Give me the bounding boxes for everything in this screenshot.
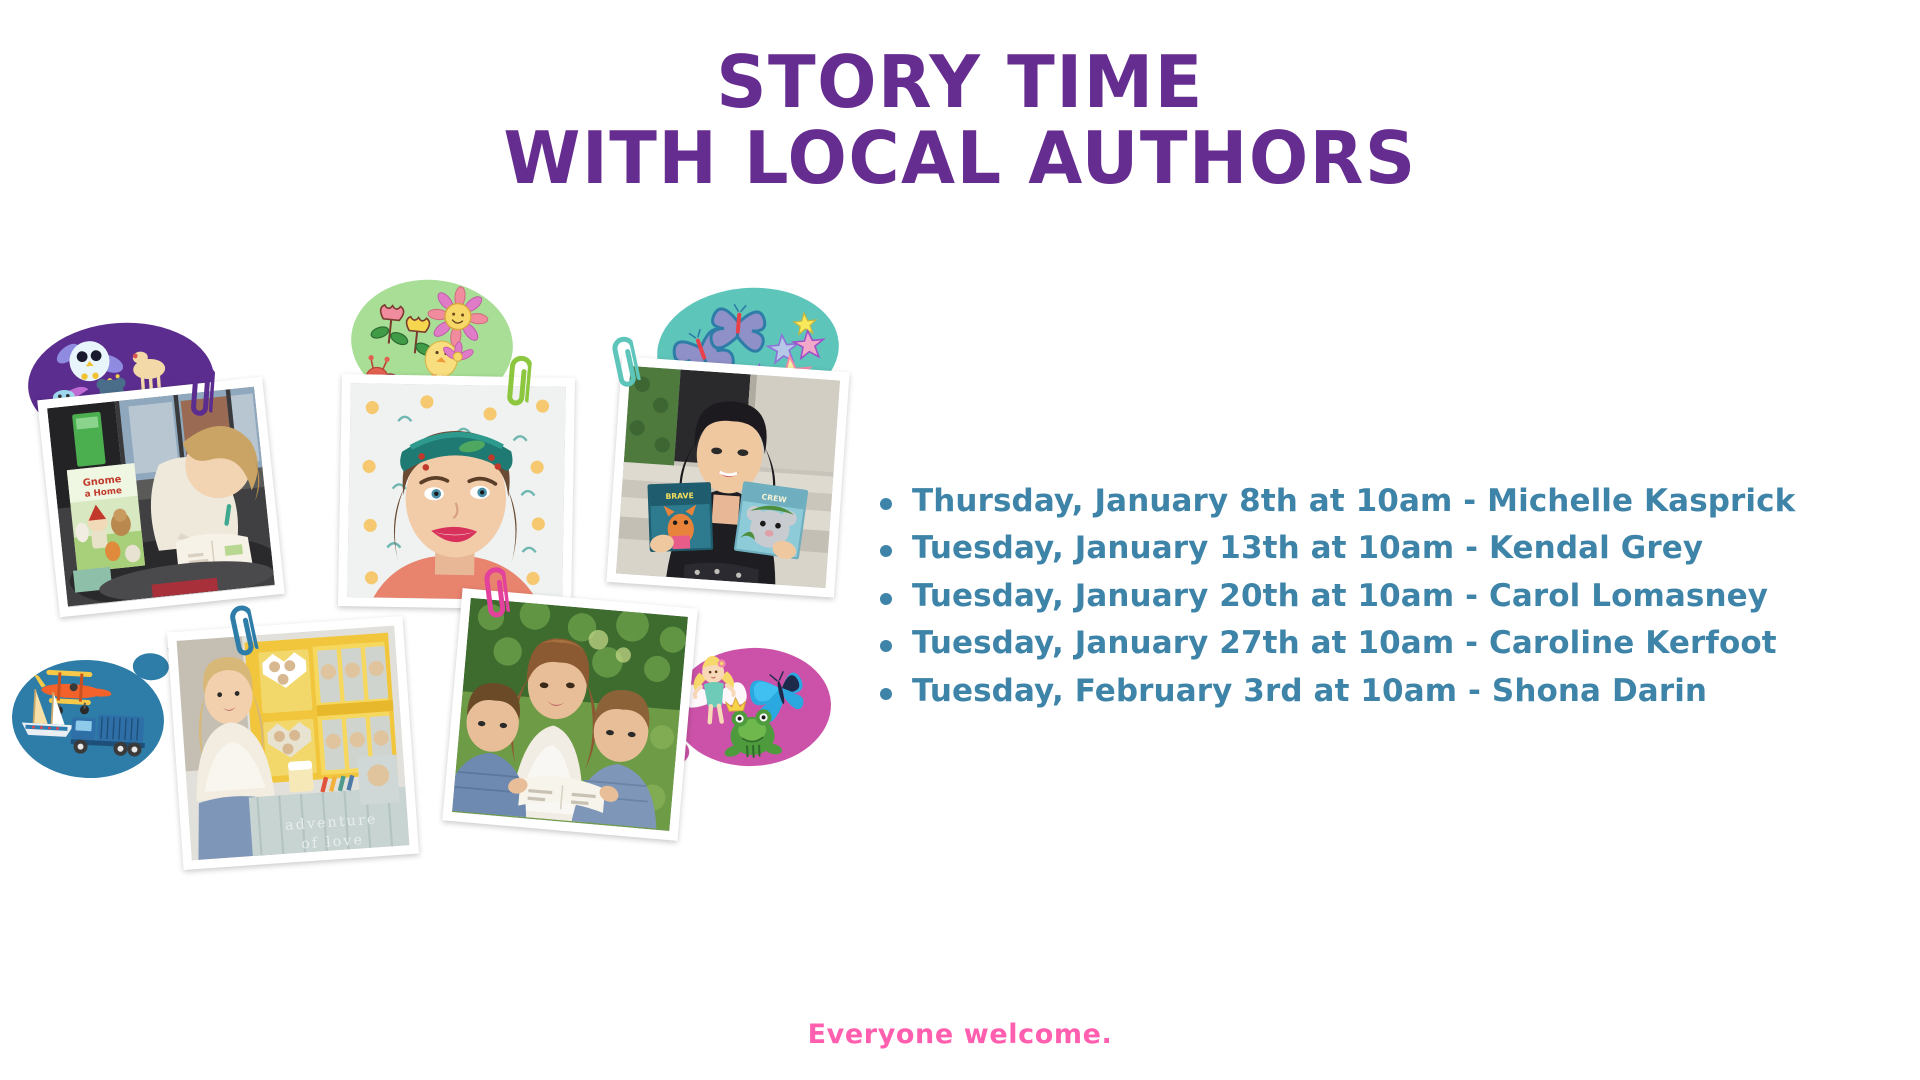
schedule-item: Tuesday, January 27th at 10am - Caroline… <box>880 627 1890 660</box>
pink-thought-bubble <box>670 644 834 770</box>
svg-text:of love: of love <box>301 832 365 852</box>
photo-author-holding-books: BRAVE CREW <box>606 356 849 597</box>
bullet-icon <box>880 640 892 652</box>
photo-family-reading <box>442 588 697 841</box>
schedule-item: Tuesday, January 20th at 10am - Carol Lo… <box>880 580 1890 613</box>
schedule-item-text: Tuesday, February 3rd at 10am - Shona Da… <box>912 675 1707 708</box>
schedule-item: Tuesday, January 13th at 10am - Kendal G… <box>880 532 1890 565</box>
schedule-item: Tuesday, February 3rd at 10am - Shona Da… <box>880 675 1890 708</box>
schedule-item: Thursday, January 8th at 10am - Michelle… <box>880 485 1890 518</box>
footer-text: Everyone welcome. <box>808 1019 1113 1050</box>
schedule-item-text: Tuesday, January 27th at 10am - Caroline… <box>912 627 1777 660</box>
paperclip-icon <box>501 354 532 414</box>
footer: Everyone welcome. <box>0 1019 1920 1050</box>
page-title: STORY TIME WITH LOCAL AUTHORS <box>0 44 1920 197</box>
photo-author-headband <box>338 374 575 610</box>
paperclip-icon <box>185 364 215 424</box>
photo-collage: Gnome a Home <box>0 280 900 1020</box>
bullet-icon <box>880 498 892 510</box>
schedule-item-text: Thursday, January 8th at 10am - Michelle… <box>912 485 1795 518</box>
bullet-icon <box>880 688 892 700</box>
paperclip-icon <box>606 334 643 396</box>
schedule-item-text: Tuesday, January 13th at 10am - Kendal G… <box>912 532 1703 565</box>
bullet-icon <box>880 593 892 605</box>
photo-author-booth: adventure of love <box>167 616 419 870</box>
title-line-2: WITH LOCAL AUTHORS <box>29 120 1891 196</box>
schedule-item-text: Tuesday, January 20th at 10am - Carol Lo… <box>912 580 1768 613</box>
schedule-list: Thursday, January 8th at 10am - Michelle… <box>880 485 1890 722</box>
blue-thought-bubble <box>9 656 167 782</box>
bullet-icon <box>880 545 892 557</box>
title-line-1: STORY TIME <box>29 44 1891 120</box>
svg-text:BRAVE: BRAVE <box>665 491 694 501</box>
photo-author-signing: Gnome a Home <box>37 377 285 617</box>
